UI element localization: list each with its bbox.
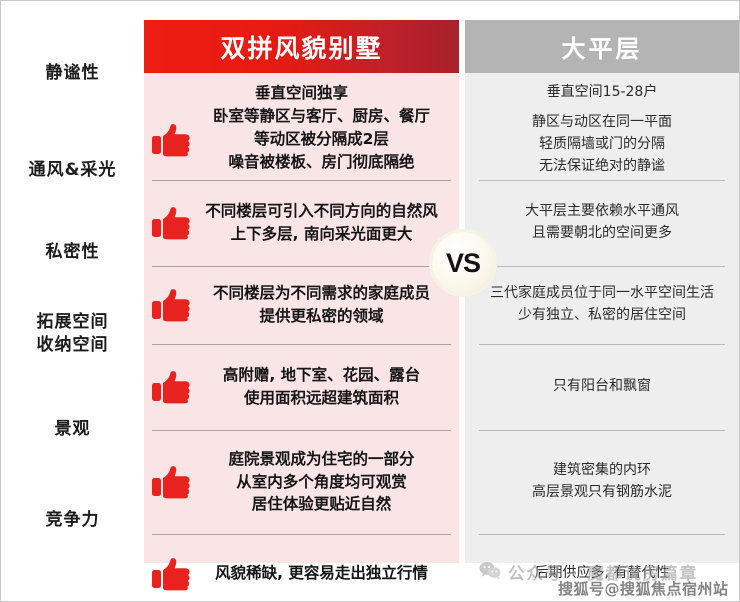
flat-line: 少有独立、私密的居住空间	[475, 305, 729, 327]
flat-text-landscape: 建筑密集的内环 高层景观只有钢筋水泥	[465, 460, 739, 503]
villa-text-ventilation-lighting: 不同楼层可引入不同方向的自然风 上下多层, 南向采光面更大	[194, 200, 449, 246]
villa-header-label: 双拼风貌别墅	[220, 29, 382, 65]
sohu-watermark-label: 搜狐号@搜狐焦点宿州站	[558, 578, 729, 599]
flat-text-quietness: 垂直空间15-28户 静区与动区在同一平面 轻质隔墙或门的分隔 无法保证绝对的静…	[465, 76, 739, 178]
thumbs-up-icon	[150, 370, 192, 404]
villa-line: 使用面积远超建筑面积	[194, 387, 449, 410]
row-label-cell: 竞争力	[1, 481, 144, 560]
villa-line: 卧室等静区与客厅、厨房、餐厅	[194, 105, 449, 128]
flat-line: 只有阳台和飘窗	[475, 376, 729, 398]
thumbs-up-icon	[150, 557, 192, 591]
villa-lead-quietness: 垂直空间独享	[144, 81, 459, 103]
villa-cell-competitiveness: 风貌稀缺, 更容易走出独立行情	[144, 534, 459, 602]
comparison-table: 静谧性 通风&采光 私密性 拓展空间收纳空间 景观 竞争力	[1, 20, 739, 582]
row-label-privacy: 私密性	[46, 241, 100, 264]
villa-cell-ventilation-lighting: 不同楼层可引入不同方向的自然风 上下多层, 南向采光面更大	[144, 180, 459, 266]
villa-line: 提供更私密的领域	[194, 305, 449, 328]
row-label-ventilation-lighting: 通风&采光	[29, 159, 117, 182]
flat-lead-quietness: 垂直空间15-28户	[475, 82, 729, 104]
thumbs-up-icon	[150, 123, 192, 157]
villa-cell-privacy: 不同楼层为不同需求的家庭成员 提供更私密的领域	[144, 266, 459, 344]
villa-text-competitiveness: 风貌稀缺, 更容易走出独立行情	[194, 562, 449, 585]
flat-cell-privacy: 三代家庭成员位于同一水平空间生活 少有独立、私密的居住空间	[465, 266, 739, 344]
vs-badge-label: VS	[446, 248, 480, 279]
villa-line: 居住体验更贴近自然	[194, 493, 449, 516]
row-label-cell: 静谧性	[1, 20, 144, 127]
thumbs-up-icon	[150, 288, 192, 322]
comparison-infographic: 静谧性 通风&采光 私密性 拓展空间收纳空间 景观 竞争力	[0, 0, 740, 602]
row-label-column: 静谧性 通风&采光 私密性 拓展空间收纳空间 景观 竞争力	[1, 20, 144, 582]
villa-column-header: 双拼风貌别墅	[144, 20, 459, 73]
villa-line: 高附赠, 地下室、花园、露台	[194, 364, 449, 387]
flat-text-privacy: 三代家庭成员位于同一水平空间生活 少有独立、私密的居住空间	[465, 283, 739, 326]
villa-line: 不同楼层为不同需求的家庭成员	[194, 282, 449, 305]
row-label-cell: 景观	[1, 377, 144, 481]
villa-cell-quietness: 垂直空间独享 卧室等静区与客厅、厨房、餐厅 等动区被分隔成2层	[144, 73, 459, 180]
villa-text-expansion-storage: 高附赠, 地下室、花园、露台 使用面积远超建筑面积	[194, 364, 449, 410]
flat-text-expansion-storage: 只有阳台和飘窗	[465, 376, 739, 398]
flat-line: 建筑密集的内环	[475, 460, 729, 482]
villa-line: 上下多层, 南向采光面更大	[194, 223, 449, 246]
row-label-competitiveness: 竞争力	[46, 509, 100, 532]
thumbs-up-icon	[150, 206, 192, 240]
villa-line: 噪音被楼板、房门彻底隔绝	[194, 151, 449, 174]
villa-text-landscape: 庭院景观成为住宅的一部分 从室内多个角度均可观赏 居住体验更贴近自然	[194, 448, 449, 517]
flat-cell-landscape: 建筑密集的内环 高层景观只有钢筋水泥	[465, 430, 739, 534]
row-label-quietness: 静谧性	[46, 62, 100, 85]
villa-cell-expansion-storage: 高附赠, 地下室、花园、露台 使用面积远超建筑面积	[144, 344, 459, 430]
flat-line: 无法保证绝对的静谧	[475, 156, 729, 178]
flat-cell-expansion-storage: 只有阳台和飘窗	[465, 344, 739, 430]
villa-text-quietness: 卧室等静区与客厅、厨房、餐厅 等动区被分隔成2层 噪音被楼板、房门彻底隔绝	[194, 105, 449, 174]
villa-line: 等动区被分隔成2层	[194, 128, 449, 151]
thumbs-up-icon	[150, 465, 192, 499]
flat-line: 轻质隔墙或门的分隔	[475, 134, 729, 156]
flat-line: 大平层主要依赖水平通风	[475, 201, 729, 223]
villa-line: 从室内多个角度均可观赏	[194, 471, 449, 494]
vs-badge: VS	[432, 232, 494, 294]
villa-column: 双拼风貌别墅 垂直空间独享	[144, 20, 459, 582]
flat-cell-ventilation-lighting: 大平层主要依赖水平通风 且需要朝北的空间更多	[465, 180, 739, 266]
flat-line: 且需要朝北的空间更多	[475, 223, 729, 245]
villa-cell-landscape: 庭院景观成为住宅的一部分 从室内多个角度均可观赏 居住体验更贴近自然	[144, 430, 459, 534]
flat-line: 高层景观只有钢筋水泥	[475, 482, 729, 504]
row-label-cell: 私密性	[1, 213, 144, 291]
row-label-landscape: 景观	[55, 418, 91, 441]
villa-column-body: 垂直空间独享 卧室等静区与客厅、厨房、餐厅 等动区被分隔成2层	[144, 73, 459, 563]
row-label-cell: 拓展空间收纳空间	[1, 291, 144, 377]
flat-header-label: 大平层	[562, 29, 643, 64]
wechat-icon	[479, 561, 501, 584]
flat-line: 静区与动区在同一平面	[475, 112, 729, 134]
flat-column-body: 垂直空间15-28户 静区与动区在同一平面 轻质隔墙或门的分隔 无法保证绝对的静…	[465, 73, 739, 563]
villa-line: 风貌稀缺, 更容易走出独立行情	[194, 562, 449, 585]
villa-line: 不同楼层可引入不同方向的自然风	[194, 200, 449, 223]
flat-cell-quietness: 垂直空间15-28户 静区与动区在同一平面 轻质隔墙或门的分隔 无法保证绝对的静…	[465, 73, 739, 180]
villa-text-privacy: 不同楼层为不同需求的家庭成员 提供更私密的领域	[194, 282, 449, 328]
row-label-cell: 通风&采光	[1, 127, 144, 213]
flat-text-ventilation-lighting: 大平层主要依赖水平通风 且需要朝北的空间更多	[465, 201, 739, 244]
row-label-expansion-storage: 拓展空间收纳空间	[37, 311, 109, 357]
flat-column-header: 大平层	[465, 20, 739, 73]
flat-line: 三代家庭成员位于同一水平空间生活	[475, 283, 729, 305]
villa-line: 庭院景观成为住宅的一部分	[194, 448, 449, 471]
flat-column: 大平层 垂直空间15-28户 静区与动区在同一平面 轻质隔墙或门的分隔 无法保证…	[465, 20, 739, 582]
